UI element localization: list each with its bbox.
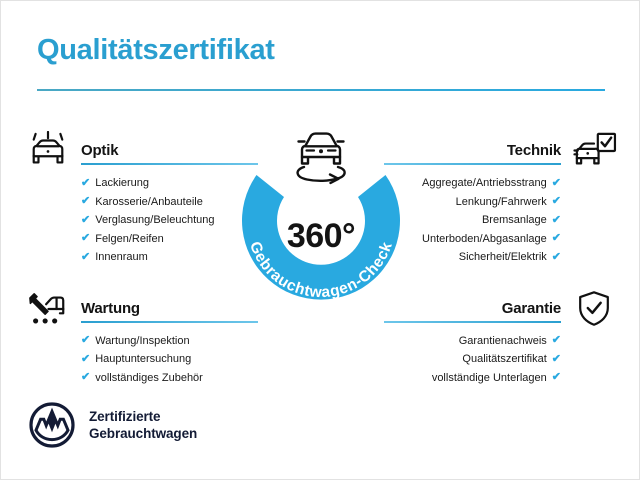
list-item-label: Lenkung/Fahrwerk — [456, 193, 547, 212]
list-item: ✔Lackierung — [23, 174, 258, 193]
column-right: Technik Aggregate/Antriebsstrang✔ Lenkun… — [384, 131, 619, 387]
list-item: Lenkung/Fahrwerk✔ — [384, 193, 619, 212]
section-title-wartung: Wartung — [81, 300, 140, 317]
section-optik: Optik ✔Lackierung ✔Karosserie/Anbauteile… — [23, 131, 258, 267]
section-header-technik: Technik — [384, 131, 619, 165]
section-title-garantie: Garantie — [502, 300, 561, 317]
checklist-technik: Aggregate/Antriebsstrang✔ Lenkung/Fahrwe… — [384, 174, 619, 267]
list-item: Qualitätszertifikat✔ — [384, 350, 619, 369]
list-item-label: Hauptuntersuchung — [95, 350, 191, 369]
section-divider-garantie — [384, 321, 561, 323]
section-header-wartung: Wartung — [23, 289, 258, 323]
list-item: ✔Felgen/Reifen — [23, 230, 258, 249]
section-divider-wartung — [81, 321, 258, 323]
section-title-technik: Technik — [507, 142, 561, 159]
footer-line-1: Zertifizierte — [89, 408, 197, 425]
checklist-optik: ✔Lackierung ✔Karosserie/Anbauteile ✔Verg… — [23, 174, 258, 267]
list-item: Garantienachweis✔ — [384, 332, 619, 351]
list-item: ✔Karosserie/Anbauteile — [23, 193, 258, 212]
check-icon: ✔ — [81, 178, 90, 189]
list-item: ✔Hauptuntersuchung — [23, 350, 258, 369]
check-icon: ✔ — [552, 372, 561, 383]
check-icon: ✔ — [81, 215, 90, 226]
check-icon: ✔ — [552, 335, 561, 346]
section-header-optik: Optik — [23, 131, 258, 165]
check-icon: ✔ — [552, 215, 561, 226]
volkswagen-logo — [29, 402, 75, 448]
shield-check-icon — [571, 289, 617, 329]
section-header-garantie: Garantie — [384, 289, 619, 323]
check-icon: ✔ — [81, 372, 90, 383]
check-icon: ✔ — [552, 233, 561, 244]
list-item-label: Qualitätszertifikat — [462, 350, 546, 369]
car-rotate-360-icon — [285, 123, 357, 189]
checklist-garantie: Garantienachweis✔ Qualitätszertifikat✔ v… — [384, 332, 619, 388]
footer-brand-text: Zertifizierte Gebrauchtwagen — [89, 408, 197, 442]
section-wartung: Wartung ✔Wartung/Inspektion ✔Hauptunters… — [23, 289, 258, 388]
list-item: Aggregate/Antriebsstrang✔ — [384, 174, 619, 193]
list-item-label: Lackierung — [95, 174, 149, 193]
title-divider — [37, 89, 605, 91]
list-item: ✔vollständiges Zubehör — [23, 369, 258, 388]
sparkling-car-icon — [25, 131, 71, 171]
list-item-label: Verglasung/Beleuchtung — [95, 211, 214, 230]
checklist-wartung: ✔Wartung/Inspektion ✔Hauptuntersuchung ✔… — [23, 332, 258, 388]
check-icon: ✔ — [552, 252, 561, 263]
section-technik: Technik Aggregate/Antriebsstrang✔ Lenkun… — [384, 131, 619, 267]
list-item-label: Aggregate/Antriebsstrang — [422, 174, 547, 193]
footer-line-2: Gebrauchtwagen — [89, 425, 197, 442]
wrench-car-service-icon — [25, 289, 71, 329]
section-garantie: Garantie Garantienachweis✔ Qualitätszert… — [384, 289, 619, 388]
list-item-label: Sicherheit/Elektrik — [459, 248, 547, 267]
list-item-label: Felgen/Reifen — [95, 230, 164, 249]
check-icon: ✔ — [81, 335, 90, 346]
list-item-label: Garantienachweis — [459, 332, 547, 351]
list-item-label: vollständige Unterlagen — [432, 369, 547, 388]
check-icon: ✔ — [81, 233, 90, 244]
badge-360-gebrauchtwagen-check: Gebrauchtwagen-Check 360° — [225, 127, 417, 319]
list-item-label: Innenraum — [95, 248, 148, 267]
check-icon: ✔ — [552, 354, 561, 365]
column-left: Optik ✔Lackierung ✔Karosserie/Anbauteile… — [23, 131, 258, 387]
list-item: Unterboden/Abgasanlage✔ — [384, 230, 619, 249]
certificate-page: Qualitätszertifikat — [0, 0, 640, 480]
list-item: Bremsanlage✔ — [384, 211, 619, 230]
list-item-label: Bremsanlage — [482, 211, 547, 230]
footer-brand: Zertifizierte Gebrauchtwagen — [29, 402, 197, 448]
list-item-label: vollständiges Zubehör — [95, 369, 203, 388]
check-icon: ✔ — [81, 354, 90, 365]
page-title: Qualitätszertifikat — [37, 34, 275, 67]
list-item: Sicherheit/Elektrik✔ — [384, 248, 619, 267]
list-item: vollständige Unterlagen✔ — [384, 369, 619, 388]
list-item-label: Unterboden/Abgasanlage — [422, 230, 547, 249]
check-icon: ✔ — [81, 196, 90, 207]
list-item-label: Karosserie/Anbauteile — [95, 193, 203, 212]
check-icon: ✔ — [552, 178, 561, 189]
check-icon: ✔ — [552, 196, 561, 207]
car-checkbox-icon — [571, 131, 617, 171]
list-item: ✔Verglasung/Beleuchtung — [23, 211, 258, 230]
section-title-optik: Optik — [81, 142, 118, 159]
list-item: ✔Wartung/Inspektion — [23, 332, 258, 351]
check-icon: ✔ — [81, 252, 90, 263]
list-item-label: Wartung/Inspektion — [95, 332, 189, 351]
list-item: ✔Innenraum — [23, 248, 258, 267]
